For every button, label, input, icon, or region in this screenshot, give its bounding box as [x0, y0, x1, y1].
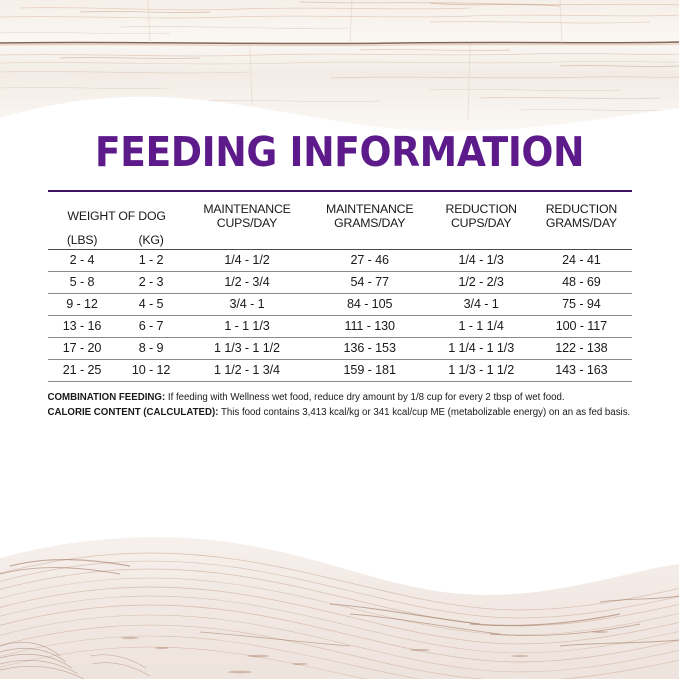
header-maintenance-grams: MAINTENANCE GRAMS/DAY [308, 192, 431, 233]
table-header-row-units: (LBS) (KG) [48, 233, 632, 250]
header-maintenance-grams-main: MAINTENANCE [326, 202, 413, 216]
wood-texture-top [0, 0, 679, 135]
cell-weight-kg: 1 - 2 [117, 249, 186, 271]
table-row: 9 - 124 - 53/4 - 184 - 1053/4 - 175 - 94 [48, 293, 632, 315]
cell-weight-kg: 10 - 12 [117, 359, 186, 381]
table-header: WEIGHT OF DOG MAINTENANCE CUPS/DAY MAINT… [48, 192, 632, 249]
header-maintenance-cups: MAINTENANCE CUPS/DAY [186, 192, 309, 233]
header-reduction-grams-main: REDUCTION [546, 202, 617, 216]
header-weight-of-dog: WEIGHT OF DOG [48, 192, 186, 233]
cell-reduction-cups: 1/2 - 2/3 [431, 271, 531, 293]
header-unit-spacer-4 [531, 233, 631, 250]
page-title: FEEDING INFORMATION [27, 130, 652, 173]
cell-reduction-cups: 1 - 1 1/4 [431, 315, 531, 337]
table-row: 13 - 166 - 71 - 1 1/3111 - 1301 - 1 1/41… [48, 315, 632, 337]
note-combination-feeding: COMBINATION FEEDING: If feeding with Wel… [48, 391, 632, 405]
header-maintenance-grams-sub: GRAMS/DAY [308, 216, 431, 230]
cell-reduction-cups: 1 1/4 - 1 1/3 [431, 337, 531, 359]
header-unit-lbs: (LBS) [48, 233, 117, 250]
header-maintenance-cups-sub: CUPS/DAY [186, 216, 309, 230]
cell-maintenance-grams: 136 - 153 [308, 337, 431, 359]
header-reduction-grams-sub: GRAMS/DAY [531, 216, 631, 230]
header-unit-spacer-2 [308, 233, 431, 250]
cell-maintenance-grams: 111 - 130 [308, 315, 431, 337]
cell-maintenance-cups: 1/4 - 1/2 [186, 249, 309, 271]
header-weight-of-dog-label: WEIGHT OF DOG [67, 209, 165, 223]
cell-maintenance-cups: 1 1/2 - 1 3/4 [186, 359, 309, 381]
cell-reduction-grams: 122 - 138 [531, 337, 631, 359]
table-body: 2 - 41 - 21/4 - 1/227 - 461/4 - 1/324 - … [48, 249, 632, 381]
feeding-notes: COMBINATION FEEDING: If feeding with Wel… [48, 382, 632, 420]
feeding-table-container: WEIGHT OF DOG MAINTENANCE CUPS/DAY MAINT… [48, 173, 632, 382]
cell-weight-lbs: 5 - 8 [48, 271, 117, 293]
cell-maintenance-grams: 159 - 181 [308, 359, 431, 381]
note-combination-label: COMBINATION FEEDING: [48, 392, 166, 403]
cell-reduction-grams: 48 - 69 [531, 271, 631, 293]
cell-maintenance-cups: 1/2 - 3/4 [186, 271, 309, 293]
note-calorie-content: CALORIE CONTENT (CALCULATED): This food … [48, 406, 632, 420]
header-reduction-cups-sub: CUPS/DAY [431, 216, 531, 230]
cell-reduction-grams: 100 - 117 [531, 315, 631, 337]
table-header-row-group: WEIGHT OF DOG MAINTENANCE CUPS/DAY MAINT… [48, 192, 632, 233]
note-combination-text: If feeding with Wellness wet food, reduc… [165, 392, 564, 403]
header-reduction-cups: REDUCTION CUPS/DAY [431, 192, 531, 233]
cell-maintenance-cups: 1 - 1 1/3 [186, 315, 309, 337]
cell-weight-lbs: 2 - 4 [48, 249, 117, 271]
cell-reduction-cups: 1/4 - 1/3 [431, 249, 531, 271]
feeding-table: WEIGHT OF DOG MAINTENANCE CUPS/DAY MAINT… [48, 192, 632, 382]
cell-reduction-grams: 143 - 163 [531, 359, 631, 381]
wood-bottom-graphic [0, 528, 679, 679]
table-row: 17 - 208 - 91 1/3 - 1 1/2136 - 1531 1/4 … [48, 337, 632, 359]
cell-weight-kg: 2 - 3 [117, 271, 186, 293]
header-unit-kg: (KG) [117, 233, 186, 250]
cell-maintenance-cups: 1 1/3 - 1 1/2 [186, 337, 309, 359]
table-row: 21 - 2510 - 121 1/2 - 1 3/4159 - 1811 1/… [48, 359, 632, 381]
cell-reduction-grams: 75 - 94 [531, 293, 631, 315]
feeding-information-panel: FEEDING INFORMATION WEIGHT OF DOG MAINTE… [0, 130, 679, 420]
header-maintenance-cups-main: MAINTENANCE [203, 202, 290, 216]
header-unit-spacer-3 [431, 233, 531, 250]
header-reduction-grams: REDUCTION GRAMS/DAY [531, 192, 631, 233]
table-row: 5 - 82 - 31/2 - 3/454 - 771/2 - 2/348 - … [48, 271, 632, 293]
cell-weight-lbs: 13 - 16 [48, 315, 117, 337]
header-reduction-cups-main: REDUCTION [446, 202, 517, 216]
wood-top-graphic [0, 0, 679, 135]
cell-maintenance-grams: 54 - 77 [308, 271, 431, 293]
cell-reduction-cups: 3/4 - 1 [431, 293, 531, 315]
cell-reduction-cups: 1 1/3 - 1 1/2 [431, 359, 531, 381]
header-unit-spacer-1 [186, 233, 309, 250]
note-calorie-label: CALORIE CONTENT (CALCULATED): [48, 407, 219, 418]
wood-texture-bottom [0, 528, 679, 679]
cell-maintenance-grams: 84 - 105 [308, 293, 431, 315]
cell-weight-lbs: 21 - 25 [48, 359, 117, 381]
cell-weight-kg: 8 - 9 [117, 337, 186, 359]
note-calorie-text: This food contains 3,413 kcal/kg or 341 … [218, 407, 630, 418]
cell-maintenance-grams: 27 - 46 [308, 249, 431, 271]
cell-weight-lbs: 9 - 12 [48, 293, 117, 315]
cell-weight-kg: 4 - 5 [117, 293, 186, 315]
cell-weight-kg: 6 - 7 [117, 315, 186, 337]
cell-weight-lbs: 17 - 20 [48, 337, 117, 359]
cell-maintenance-cups: 3/4 - 1 [186, 293, 309, 315]
table-row: 2 - 41 - 21/4 - 1/227 - 461/4 - 1/324 - … [48, 249, 632, 271]
cell-reduction-grams: 24 - 41 [531, 249, 631, 271]
